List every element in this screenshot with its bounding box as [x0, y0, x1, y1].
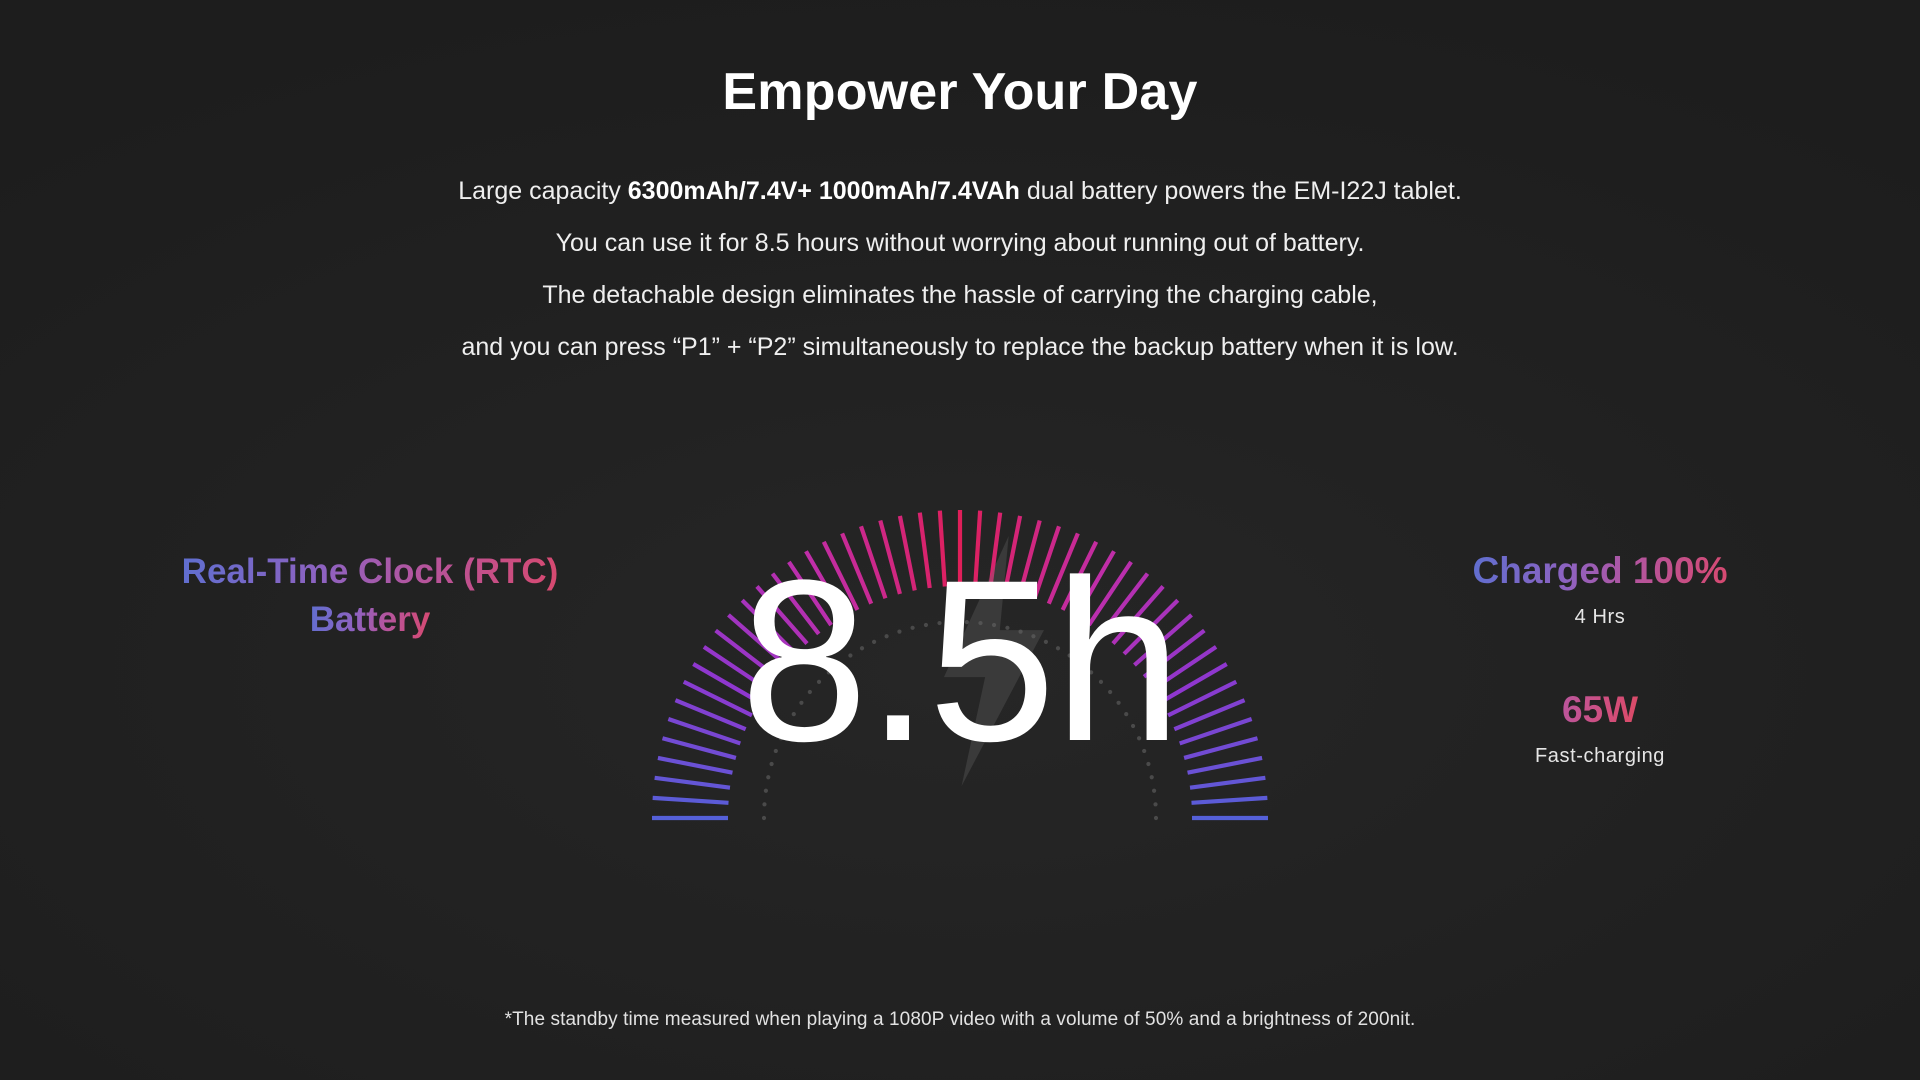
description-line-4: and you can press “P1” + “P2” simultaneo…: [0, 321, 1920, 373]
rtc-battery-label-line-2: Battery: [310, 596, 431, 644]
gauge-inner-dot: [1154, 816, 1158, 820]
description-line-1-pre: Large capacity: [458, 177, 628, 205]
gauge-inner-dot: [762, 802, 766, 806]
battery-capacity-bold: 6300mAh/7.4V+ 1000mAh/7.4VAh: [628, 177, 1020, 205]
fast-charging-note: Fast-charging: [1300, 745, 1900, 768]
charged-percent-title: Charged 100%: [1300, 548, 1900, 594]
fast-charging-block: 65W Fast-charging: [1300, 687, 1900, 768]
gauge-tick: [653, 798, 729, 803]
wattage-title: 65W: [1300, 687, 1900, 733]
charged-hours-note: 4 Hrs: [1300, 606, 1900, 629]
description-paragraph: Large capacity 6300mAh/7.4V+ 1000mAh/7.4…: [0, 165, 1920, 373]
description-line-1: Large capacity 6300mAh/7.4V+ 1000mAh/7.4…: [0, 165, 1920, 217]
gauge-value: 8.5h: [560, 546, 1360, 776]
description-line-3: The detachable design eliminates the has…: [0, 269, 1920, 321]
gauge-inner-dot: [1152, 789, 1156, 793]
charging-info-column: Charged 100% 4 Hrs 65W Fast-charging: [1300, 548, 1900, 768]
gauge-tick: [1192, 798, 1268, 803]
description-line-2: You can use it for 8.5 hours without wor…: [0, 217, 1920, 269]
page-title: Empower Your Day: [0, 62, 1920, 122]
gauge-tick: [1190, 778, 1265, 788]
battery-life-gauge: 8.5h: [560, 418, 1360, 888]
gauge-tick: [655, 778, 730, 788]
description-line-1-post: dual battery powers the EM-I22J tablet.: [1020, 177, 1462, 205]
gauge-inner-dot: [764, 789, 768, 793]
gauge-inner-dot: [1153, 802, 1157, 806]
gauge-inner-dot: [762, 816, 766, 820]
battery-feature-page: Empower Your Day Large capacity 6300mAh/…: [0, 0, 1920, 1080]
footnote-text: *The standby time measured when playing …: [0, 1009, 1920, 1031]
rtc-battery-label-line-1: Real-Time Clock (RTC): [182, 548, 559, 596]
